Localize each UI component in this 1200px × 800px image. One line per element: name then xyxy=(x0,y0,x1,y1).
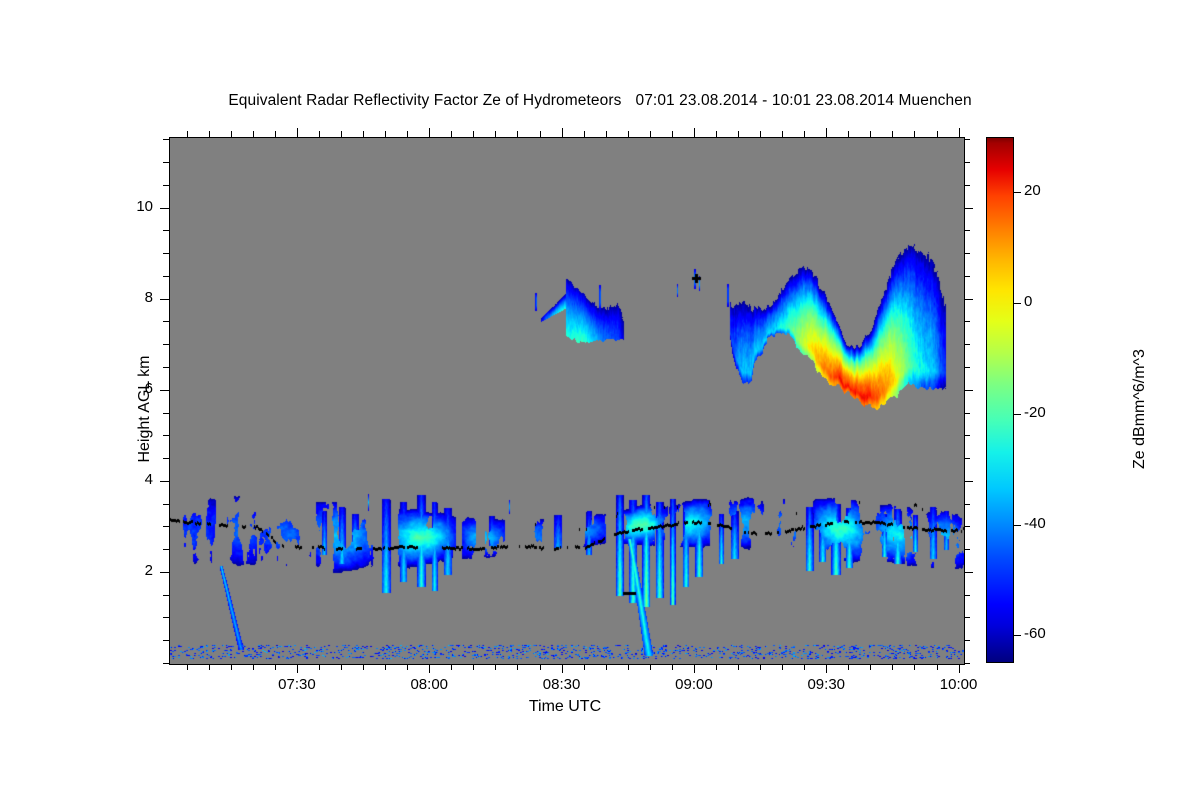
y-major-tick-right xyxy=(964,299,973,300)
x-minor-tick xyxy=(914,664,915,670)
x-minor-tick-top xyxy=(187,131,188,137)
y-major-tick xyxy=(160,299,169,300)
colorbar-tick xyxy=(1014,192,1021,193)
x-minor-tick xyxy=(804,664,805,670)
y-minor-tick xyxy=(163,139,169,140)
x-major-tick-top xyxy=(826,128,827,137)
x-minor-tick xyxy=(584,664,585,670)
colorbar-tick-label: 20 xyxy=(1024,182,1041,199)
y-minor-tick xyxy=(163,321,169,322)
y-minor-tick xyxy=(163,663,169,664)
y-major-tick-right xyxy=(964,481,973,482)
plot-area xyxy=(169,137,965,665)
x-minor-tick-top xyxy=(231,131,232,137)
x-minor-tick xyxy=(937,664,938,670)
x-minor-tick xyxy=(275,664,276,670)
colorbar-gradient xyxy=(986,137,1014,663)
figure-title-range: 07:01 23.08.2014 - 10:01 23.08.2014 Muen… xyxy=(635,92,971,109)
x-minor-tick-top xyxy=(628,131,629,137)
x-major-tick-top xyxy=(297,128,298,137)
colorbar-tick-label: -20 xyxy=(1024,404,1046,421)
x-minor-tick xyxy=(782,664,783,670)
y-major-tick xyxy=(160,208,169,209)
y-minor-tick xyxy=(163,435,169,436)
x-tick-label: 08:00 xyxy=(369,676,489,693)
y-minor-tick xyxy=(163,595,169,596)
x-minor-tick xyxy=(848,664,849,670)
y-minor-tick xyxy=(163,344,169,345)
y-minor-tick-right xyxy=(964,367,970,368)
x-minor-tick xyxy=(495,664,496,670)
y-tick-label: 2 xyxy=(95,562,153,579)
x-major-tick-top xyxy=(959,128,960,137)
y-minor-tick-right xyxy=(964,595,970,596)
x-minor-tick-top xyxy=(473,131,474,137)
y-minor-tick-right xyxy=(964,276,970,277)
x-minor-tick xyxy=(870,664,871,670)
x-minor-tick-top xyxy=(363,131,364,137)
x-minor-tick xyxy=(363,664,364,670)
x-minor-tick-top xyxy=(209,131,210,137)
x-minor-tick xyxy=(540,664,541,670)
x-minor-tick xyxy=(187,664,188,670)
x-major-tick xyxy=(297,664,298,673)
x-minor-tick xyxy=(672,664,673,670)
radar-reflectivity-heatmap xyxy=(170,138,964,664)
colorbar-tick-label: -60 xyxy=(1024,625,1046,642)
y-axis-title: Height AGL km xyxy=(136,259,154,559)
y-minor-tick-right xyxy=(964,504,970,505)
y-minor-tick-right xyxy=(964,640,970,641)
y-minor-tick-right xyxy=(964,549,970,550)
x-minor-tick xyxy=(341,664,342,670)
x-minor-tick-top xyxy=(517,131,518,137)
x-axis-title: Time UTC xyxy=(0,698,1130,716)
x-minor-tick xyxy=(253,664,254,670)
x-minor-tick xyxy=(319,664,320,670)
y-minor-tick xyxy=(163,367,169,368)
colorbar-tick xyxy=(1014,414,1021,415)
y-minor-tick-right xyxy=(964,185,970,186)
x-minor-tick-top xyxy=(892,131,893,137)
x-minor-tick-top xyxy=(716,131,717,137)
x-minor-tick-top xyxy=(275,131,276,137)
colorbar-tick-label: -40 xyxy=(1024,515,1046,532)
x-minor-tick-top xyxy=(672,131,673,137)
x-minor-tick-top xyxy=(385,131,386,137)
y-minor-tick xyxy=(163,504,169,505)
radar-figure: Equivalent Radar Reflectivity Factor Ze … xyxy=(0,0,1200,800)
colorbar-tick xyxy=(1014,303,1021,304)
x-minor-tick-top xyxy=(914,131,915,137)
figure-title: Equivalent Radar Reflectivity Factor Ze … xyxy=(0,92,1200,110)
y-tick-label: 10 xyxy=(95,198,153,215)
colorbar-tick-label: 0 xyxy=(1024,293,1032,310)
y-major-tick xyxy=(160,572,169,573)
x-minor-tick xyxy=(606,664,607,670)
colorbar-tick xyxy=(1014,635,1021,636)
x-minor-tick-top xyxy=(804,131,805,137)
x-major-tick xyxy=(562,664,563,673)
x-major-tick-top xyxy=(694,128,695,137)
y-minor-tick xyxy=(163,526,169,527)
x-minor-tick-top xyxy=(495,131,496,137)
x-minor-tick-top xyxy=(253,131,254,137)
y-minor-tick-right xyxy=(964,139,970,140)
x-minor-tick-top xyxy=(451,131,452,137)
y-major-tick-right xyxy=(964,572,973,573)
x-major-tick-top xyxy=(429,128,430,137)
x-major-tick xyxy=(826,664,827,673)
x-minor-tick xyxy=(716,664,717,670)
x-major-tick-top xyxy=(562,128,563,137)
x-minor-tick-top xyxy=(782,131,783,137)
x-minor-tick-top xyxy=(584,131,585,137)
y-major-tick-right xyxy=(964,390,973,391)
figure-title-main: Equivalent Radar Reflectivity Factor Ze … xyxy=(228,92,621,109)
y-minor-tick-right xyxy=(964,663,970,664)
x-minor-tick-top xyxy=(319,131,320,137)
y-minor-tick-right xyxy=(964,253,970,254)
y-major-tick-right xyxy=(964,208,973,209)
colorbar-tick xyxy=(1014,525,1021,526)
y-major-tick xyxy=(160,390,169,391)
y-minor-tick-right xyxy=(964,435,970,436)
colorbar-title: Ze dBmm^6/m^3 xyxy=(1131,259,1149,559)
x-minor-tick-top xyxy=(848,131,849,137)
y-minor-tick xyxy=(163,458,169,459)
colorbar xyxy=(986,137,1014,663)
x-minor-tick xyxy=(407,664,408,670)
x-minor-tick xyxy=(231,664,232,670)
x-tick-label: 08:30 xyxy=(502,676,622,693)
x-major-tick xyxy=(959,664,960,673)
x-tick-label: 10:00 xyxy=(899,676,1019,693)
x-minor-tick-top xyxy=(606,131,607,137)
y-minor-tick-right xyxy=(964,344,970,345)
x-minor-tick-top xyxy=(870,131,871,137)
y-minor-tick xyxy=(163,276,169,277)
x-tick-label: 09:30 xyxy=(766,676,886,693)
x-minor-tick xyxy=(738,664,739,670)
x-minor-tick xyxy=(451,664,452,670)
x-minor-tick-top xyxy=(650,131,651,137)
x-minor-tick xyxy=(628,664,629,670)
x-major-tick xyxy=(429,664,430,673)
x-minor-tick-top xyxy=(760,131,761,137)
x-minor-tick xyxy=(473,664,474,670)
y-minor-tick xyxy=(163,185,169,186)
y-minor-tick xyxy=(163,230,169,231)
x-minor-tick xyxy=(760,664,761,670)
y-minor-tick-right xyxy=(964,230,970,231)
x-tick-label: 09:00 xyxy=(634,676,754,693)
y-minor-tick-right xyxy=(964,458,970,459)
y-minor-tick xyxy=(163,162,169,163)
y-minor-tick-right xyxy=(964,617,970,618)
y-minor-tick xyxy=(163,617,169,618)
y-minor-tick xyxy=(163,253,169,254)
x-minor-tick xyxy=(517,664,518,670)
x-minor-tick xyxy=(892,664,893,670)
y-minor-tick-right xyxy=(964,162,970,163)
x-minor-tick-top xyxy=(738,131,739,137)
y-minor-tick-right xyxy=(964,413,970,414)
y-minor-tick xyxy=(163,549,169,550)
x-tick-label: 07:30 xyxy=(237,676,357,693)
y-minor-tick-right xyxy=(964,526,970,527)
y-minor-tick-right xyxy=(964,321,970,322)
x-minor-tick-top xyxy=(937,131,938,137)
x-minor-tick-top xyxy=(407,131,408,137)
x-minor-tick xyxy=(209,664,210,670)
x-minor-tick-top xyxy=(540,131,541,137)
x-minor-tick xyxy=(385,664,386,670)
y-major-tick xyxy=(160,481,169,482)
y-minor-tick xyxy=(163,413,169,414)
x-minor-tick xyxy=(650,664,651,670)
y-minor-tick xyxy=(163,640,169,641)
x-major-tick xyxy=(694,664,695,673)
x-minor-tick-top xyxy=(341,131,342,137)
